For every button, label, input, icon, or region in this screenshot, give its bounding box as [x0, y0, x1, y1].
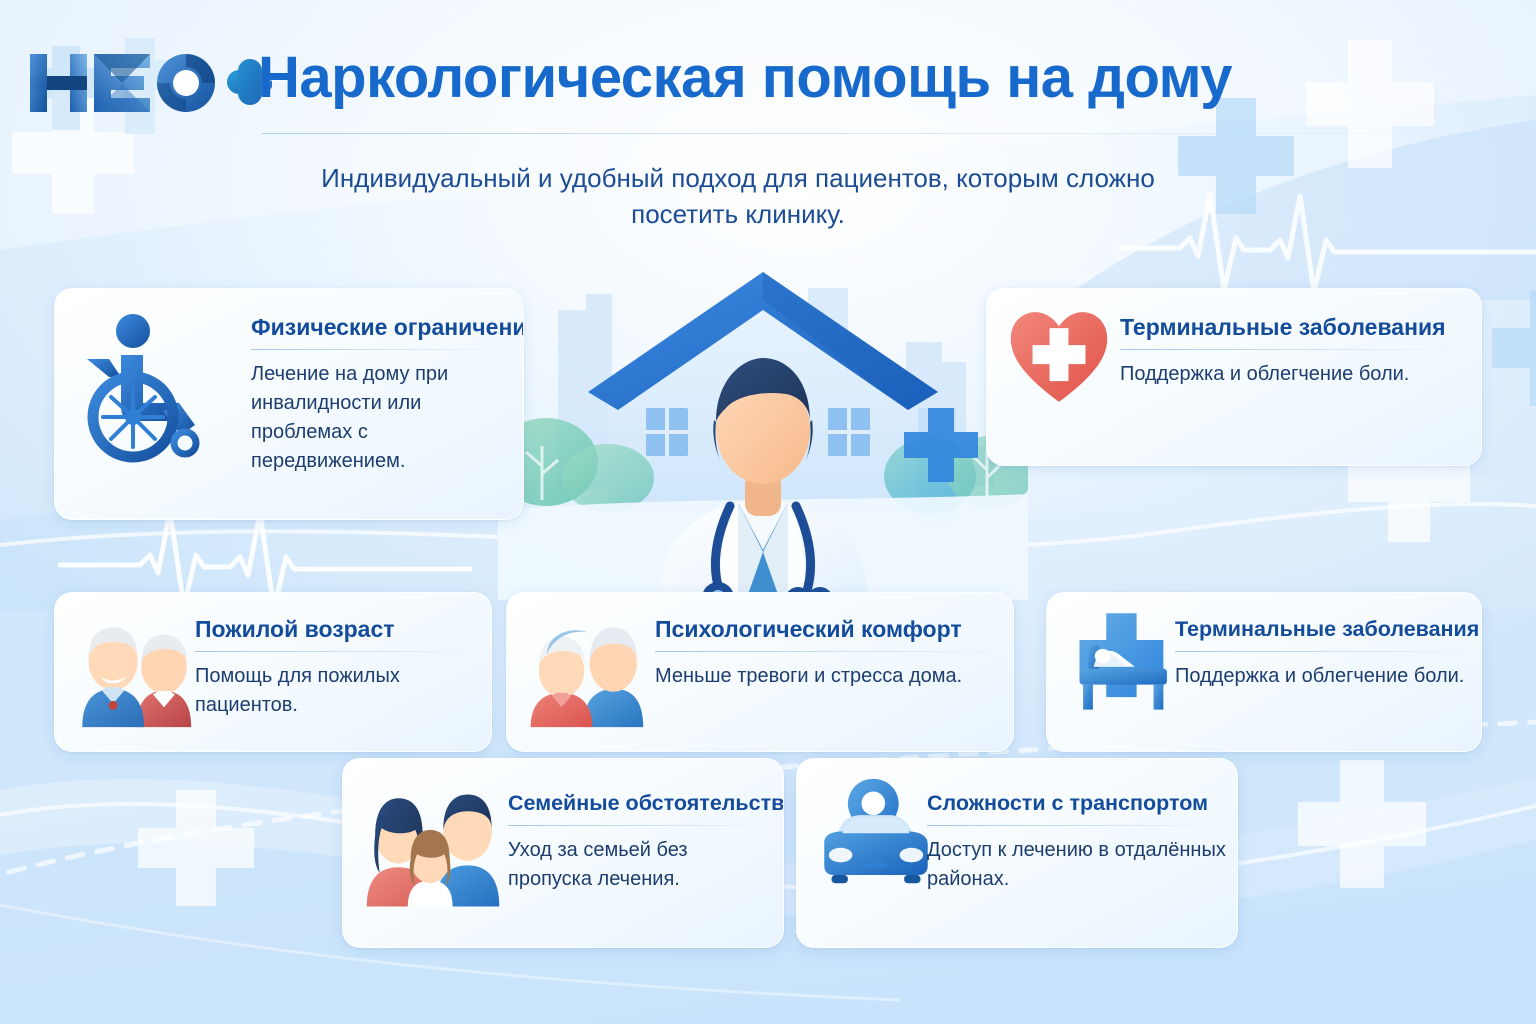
- card-terminal-illness-heart[interactable]: Терминальные заболевания Поддержка и обл…: [986, 288, 1482, 466]
- card-title: Терминальные заболевания: [1175, 615, 1475, 643]
- card-content: Физические ограничения Лечение на дому п…: [251, 313, 501, 476]
- wheelchair-icon: [75, 307, 225, 467]
- card-divider: [655, 651, 1005, 652]
- card-description: Уход за семьей без пропуска лечения.: [508, 836, 773, 894]
- header: Наркологическая помощь на дому Индивидуа…: [0, 0, 1536, 250]
- card-title: Физические ограничения: [251, 313, 501, 341]
- card-family-circumstances[interactable]: Семейные обстоятельства Уход за семьей б…: [342, 758, 784, 948]
- card-divider: [1120, 349, 1460, 350]
- card-elderly-age[interactable]: Пожилой возраст Помощь для пожилых пацие…: [54, 592, 492, 752]
- card-content: Пожилой возраст Помощь для пожилых пацие…: [195, 615, 480, 720]
- doctor-at-home-illustration: [498, 250, 1028, 600]
- heart-cross-icon: [1007, 307, 1111, 407]
- card-content: Семейные обстоятельства Уход за семьей б…: [508, 789, 773, 894]
- card-content: Сложности с транспортом Доступ к лечению…: [927, 789, 1227, 894]
- card-divider: [251, 349, 501, 350]
- hospital-bed-cross-icon: [1067, 611, 1183, 719]
- infographic-canvas: Наркологическая помощь на дому Индивидуа…: [0, 0, 1536, 1024]
- card-title: Семейные обстоятельства: [508, 789, 773, 817]
- card-description: Доступ к лечению в отдалённых районах.: [927, 836, 1227, 894]
- elderly-couple-icon: [75, 611, 193, 729]
- card-terminal-illness-bed[interactable]: Терминальные заболевания Поддержка и обл…: [1046, 592, 1482, 752]
- card-divider: [927, 825, 1227, 826]
- card-transport-difficulties[interactable]: Сложности с транспортом Доступ к лечению…: [796, 758, 1238, 948]
- card-title: Психологический комфорт: [655, 615, 1005, 643]
- card-content: Психологический комфорт Меньше тревоги и…: [655, 615, 1005, 691]
- card-description: Меньше тревоги и стресса дома.: [655, 662, 1005, 691]
- card-psychological-comfort[interactable]: Психологический комфорт Меньше тревоги и…: [506, 592, 1014, 752]
- card-description: Поддержка и облегчение боли.: [1175, 662, 1475, 691]
- card-title: Пожилой возраст: [195, 615, 480, 643]
- card-content: Терминальные заболевания Поддержка и обл…: [1120, 313, 1460, 389]
- card-divider: [1175, 651, 1475, 652]
- card-description: Помощь для пожилых пациентов.: [195, 662, 480, 720]
- subtitle: Индивидуальный и удобный подход для паци…: [268, 160, 1208, 232]
- card-physical-limitations[interactable]: Физические ограничения Лечение на дому п…: [54, 288, 524, 520]
- card-description: Поддержка и облегчение боли.: [1120, 360, 1460, 389]
- title-divider: [262, 133, 1502, 134]
- family-icon: [363, 777, 503, 909]
- neo-plus-logo[interactable]: [22, 38, 272, 134]
- card-title: Терминальные заболевания: [1120, 313, 1460, 341]
- card-divider: [508, 825, 773, 826]
- page-title: Наркологическая помощь на дому: [258, 44, 1232, 111]
- card-content: Терминальные заболевания Поддержка и обл…: [1175, 615, 1475, 691]
- car-location-pin-icon: [817, 777, 935, 895]
- card-title: Сложности с транспортом: [927, 789, 1227, 817]
- two-people-icon: [527, 611, 645, 729]
- card-divider: [195, 651, 480, 652]
- card-description: Лечение на дому при инвалидности или про…: [251, 360, 501, 476]
